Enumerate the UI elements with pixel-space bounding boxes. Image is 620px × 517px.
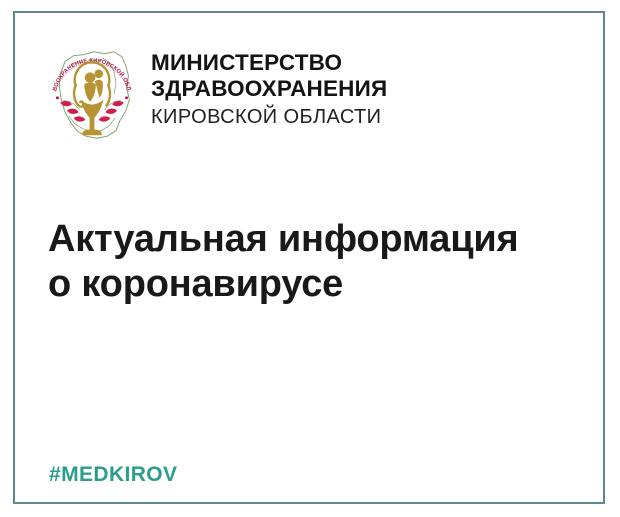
- hashtag-medkirov: #MEDKIROV: [49, 463, 177, 487]
- page-title: Актуальная информация о коронавирусе: [48, 217, 519, 307]
- page-title-line-2: о коронавирусе: [48, 262, 519, 307]
- emblem-graphic: ЗДРАВООХРАНЕНИЕ КИРОВСКОЙ ОБЛАСТИ: [44, 44, 140, 144]
- ministry-name-block: МИНИСТЕРСТВО ЗДРАВООХРАНЕНИЯ КИРОВСКОЙ О…: [151, 50, 387, 130]
- ministry-header: ЗДРАВООХРАНЕНИЕ КИРОВСКОЙ ОБЛАСТИ: [44, 42, 387, 149]
- ministry-of-health-kirov-emblem: ЗДРАВООХРАНЕНИЕ КИРОВСКОЙ ОБЛАСТИ: [44, 42, 140, 149]
- page-title-line-1: Актуальная информация: [48, 217, 519, 262]
- poster-card: ЗДРАВООХРАНЕНИЕ КИРОВСКОЙ ОБЛАСТИ: [13, 11, 605, 504]
- ministry-line-1: МИНИСТЕРСТВО: [151, 50, 387, 76]
- ministry-line-2: ЗДРАВООХРАНЕНИЯ: [151, 76, 387, 102]
- ministry-line-3: КИРОВСКОЙ ОБЛАСТИ: [151, 104, 387, 130]
